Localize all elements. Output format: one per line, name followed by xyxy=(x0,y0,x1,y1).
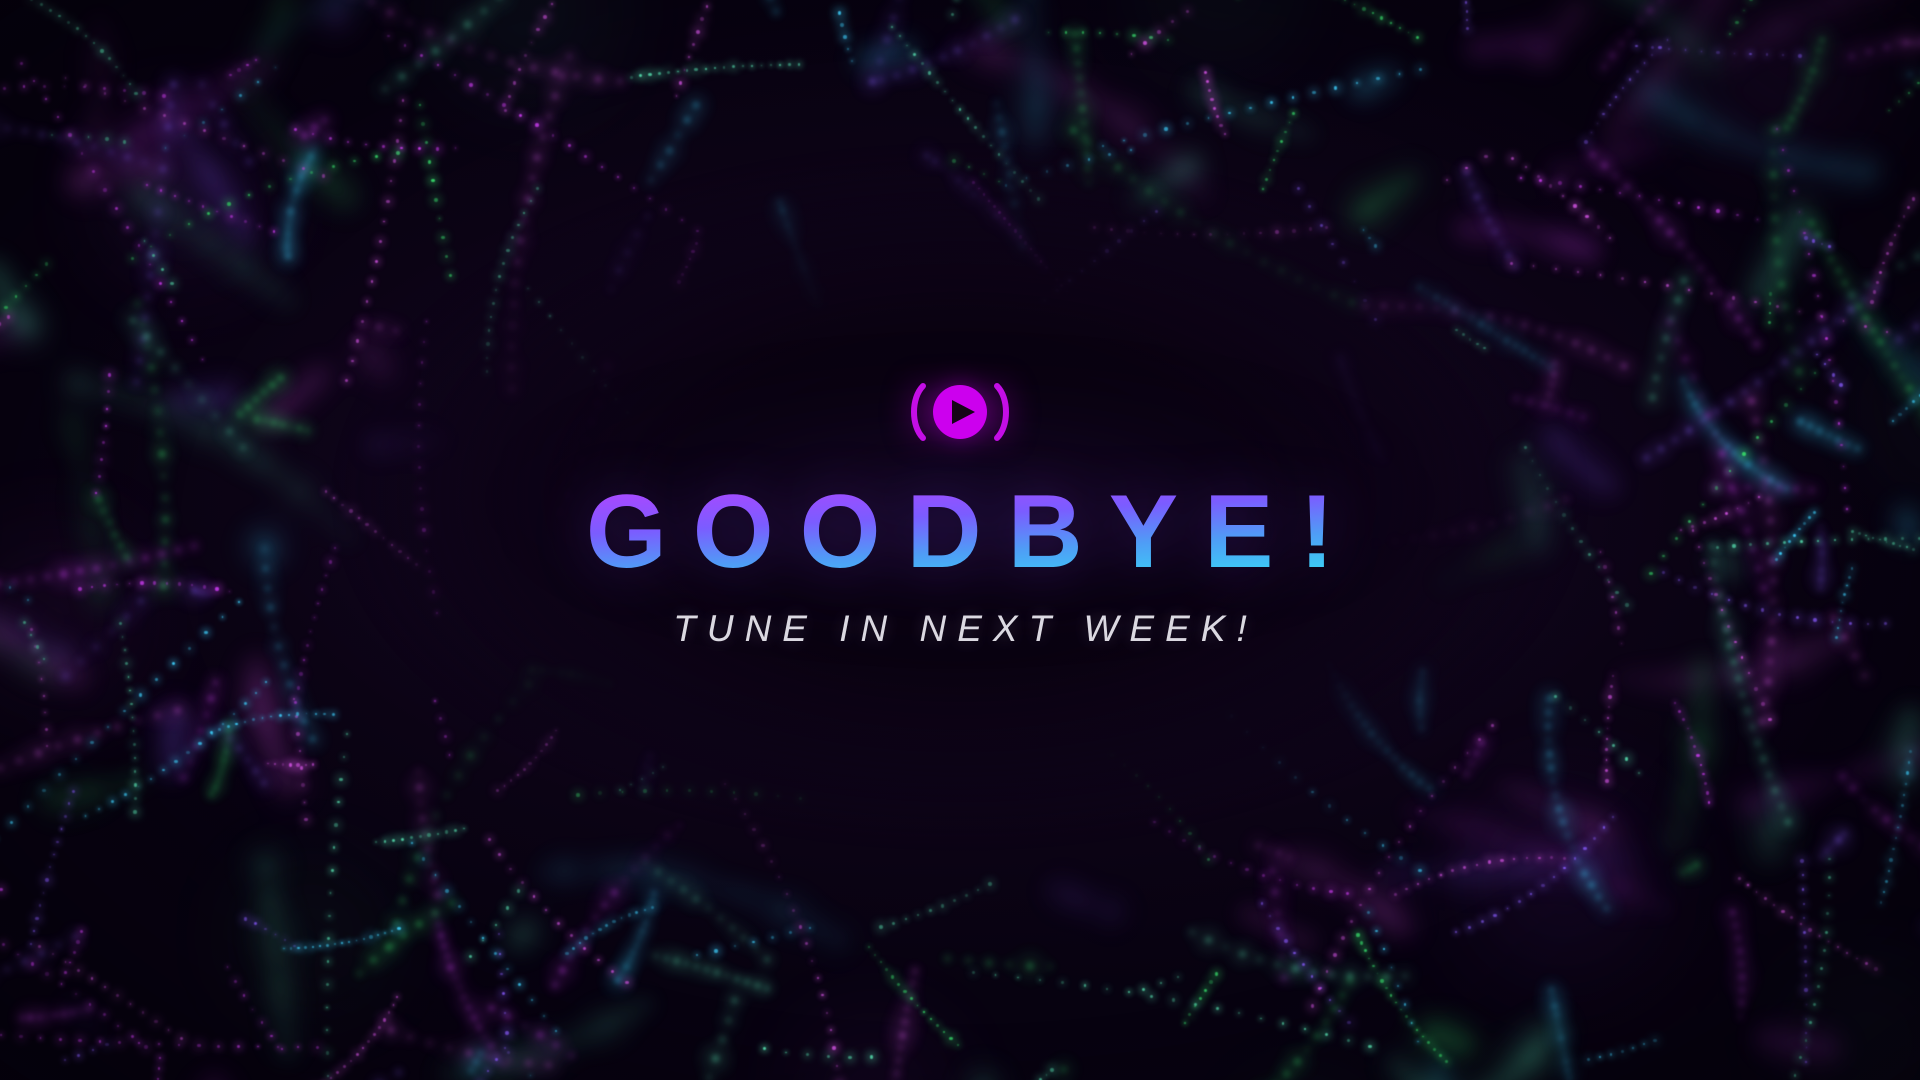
background-particle xyxy=(1537,175,1540,178)
background-particle xyxy=(1398,841,1400,843)
background-particle xyxy=(262,717,264,719)
background-particle xyxy=(306,713,308,715)
background-particle xyxy=(1376,77,1379,80)
background-particle xyxy=(1685,49,1687,51)
background-particle xyxy=(1043,299,1046,302)
background-particle xyxy=(85,815,87,817)
background-particle xyxy=(811,960,813,962)
background-particle xyxy=(159,282,162,285)
background-particle xyxy=(836,1065,839,1068)
background-particle xyxy=(1526,857,1529,860)
background-particle xyxy=(30,943,32,945)
background-particle xyxy=(296,712,299,715)
background-particle xyxy=(77,969,80,972)
background-particle xyxy=(1606,759,1608,761)
background-particle xyxy=(696,30,700,34)
background-particle xyxy=(1874,967,1877,970)
background-particle xyxy=(255,692,257,694)
background-particle xyxy=(570,934,573,937)
background-particle xyxy=(1359,904,1362,907)
background-particle xyxy=(1312,887,1315,890)
background-particle xyxy=(998,153,1001,156)
background-particle xyxy=(152,254,155,257)
background-particle xyxy=(1368,1045,1371,1048)
background-particle xyxy=(1605,748,1608,751)
background-particle xyxy=(130,703,133,706)
background-particle xyxy=(392,839,395,842)
background-particle xyxy=(688,56,690,58)
background-particle xyxy=(61,983,63,985)
background-particle xyxy=(289,763,292,766)
background-particle xyxy=(1150,995,1153,998)
background-particle xyxy=(581,356,584,359)
background-particle xyxy=(1184,1022,1186,1024)
background-particle xyxy=(1024,241,1028,245)
background-particle xyxy=(1764,897,1767,900)
background-particle xyxy=(49,9,52,12)
background-particle xyxy=(42,789,46,793)
background-particle xyxy=(33,80,35,82)
background-particle xyxy=(1375,930,1378,933)
background-particle xyxy=(76,27,79,30)
background-particle xyxy=(184,135,186,137)
background-particle xyxy=(1569,706,1573,710)
background-particle xyxy=(207,212,210,215)
background-particle xyxy=(158,1067,161,1070)
background-particle xyxy=(495,289,497,291)
background-particle xyxy=(1819,935,1821,937)
background-particle xyxy=(487,1070,490,1073)
background-particle xyxy=(0,888,3,891)
background-particle xyxy=(1644,62,1646,64)
background-particle xyxy=(304,946,307,949)
background-particle xyxy=(180,1037,183,1040)
background-particle xyxy=(809,927,811,929)
background-particle xyxy=(362,1047,364,1049)
background-particle xyxy=(375,260,378,263)
background-particle xyxy=(557,922,560,925)
background-particle xyxy=(499,953,501,955)
background-particle xyxy=(57,116,59,118)
background-particle xyxy=(504,785,506,787)
background-particle xyxy=(1825,931,1828,934)
background-particle xyxy=(1399,73,1401,75)
background-particle xyxy=(943,1031,945,1033)
background-particle xyxy=(449,274,452,277)
background-particle xyxy=(401,838,404,841)
background-particle xyxy=(134,770,136,772)
background-particle xyxy=(524,54,527,57)
background-particle xyxy=(1157,30,1161,34)
background-particle xyxy=(1416,1029,1418,1031)
background-particle xyxy=(78,1039,82,1043)
background-particle xyxy=(125,662,128,665)
background-particle xyxy=(1507,908,1508,909)
background-particle xyxy=(1422,1036,1424,1038)
background-particle xyxy=(972,181,975,184)
background-particle xyxy=(892,922,895,925)
background-particle xyxy=(1380,979,1383,982)
background-particle xyxy=(1333,953,1337,957)
background-particle xyxy=(1409,825,1412,828)
background-particle xyxy=(543,15,547,19)
background-particle xyxy=(696,230,699,233)
background-particle xyxy=(132,717,134,719)
background-particle xyxy=(1391,967,1393,969)
background-particle xyxy=(1549,184,1553,188)
background-particle xyxy=(222,137,226,141)
background-particle xyxy=(134,783,138,787)
background-particle xyxy=(43,85,46,88)
background-particle xyxy=(1130,149,1132,151)
background-particle xyxy=(1276,927,1280,931)
background-particle xyxy=(252,1009,254,1011)
background-particle xyxy=(752,828,755,831)
background-particle xyxy=(1338,1010,1341,1013)
signal-arc-right-icon xyxy=(997,386,1006,438)
background-particle xyxy=(1749,0,1753,1)
background-particle xyxy=(1040,260,1043,263)
background-particle xyxy=(1399,27,1401,29)
background-particle xyxy=(445,830,448,833)
background-particle xyxy=(170,282,173,285)
background-particle xyxy=(714,949,718,953)
background-particle xyxy=(536,28,539,31)
background-particle xyxy=(1390,22,1392,24)
background-particle xyxy=(625,981,628,984)
background-particle xyxy=(1584,140,1588,144)
background-particle xyxy=(1909,750,1913,754)
background-particle xyxy=(304,802,306,804)
background-particle xyxy=(382,145,385,148)
background-particle xyxy=(1828,941,1830,943)
background-particle xyxy=(134,757,136,759)
background-particle xyxy=(494,952,497,955)
background-particle xyxy=(1493,914,1496,917)
background-particle xyxy=(1342,261,1344,263)
background-particle xyxy=(1320,224,1323,227)
background-particle xyxy=(1296,884,1298,886)
background-particle xyxy=(1555,268,1557,270)
background-particle xyxy=(1155,210,1158,213)
background-particle xyxy=(1768,718,1772,722)
background-particle xyxy=(1754,301,1757,304)
background-particle xyxy=(268,185,271,188)
background-particle xyxy=(1368,888,1371,891)
background-particle xyxy=(1013,171,1016,174)
background-particle xyxy=(174,195,176,197)
background-particle xyxy=(635,911,638,914)
background-particle xyxy=(1886,331,1888,333)
background-particle xyxy=(336,1071,339,1074)
background-particle xyxy=(396,996,398,998)
background-particle xyxy=(128,676,130,678)
background-particle xyxy=(967,117,969,119)
background-particle xyxy=(1704,782,1707,785)
background-particle xyxy=(1385,987,1388,990)
background-particle xyxy=(1813,1003,1816,1006)
background-particle xyxy=(482,940,484,942)
background-particle xyxy=(761,844,764,847)
background-particle xyxy=(1747,884,1749,886)
background-particle xyxy=(363,938,366,941)
background-particle xyxy=(437,833,439,835)
background-particle xyxy=(639,74,642,77)
background-particle xyxy=(1605,769,1608,772)
background-particle xyxy=(543,1015,545,1017)
background-particle xyxy=(81,152,84,155)
background-particle xyxy=(297,1046,299,1048)
background-particle xyxy=(183,122,186,125)
background-particle xyxy=(316,1046,320,1050)
background-particle xyxy=(1228,112,1231,115)
background-particle xyxy=(1912,197,1915,200)
background-particle xyxy=(1553,876,1556,879)
background-particle xyxy=(1583,847,1587,851)
background-particle xyxy=(103,87,106,90)
background-particle xyxy=(1367,911,1370,914)
background-particle xyxy=(1193,234,1195,236)
background-particle xyxy=(419,104,421,106)
background-particle xyxy=(1518,900,1521,903)
background-particle xyxy=(930,1018,932,1020)
background-particle xyxy=(441,236,444,239)
background-particle xyxy=(1382,844,1385,847)
background-particle xyxy=(294,701,297,704)
background-particle xyxy=(1325,1033,1328,1036)
background-particle xyxy=(1577,271,1579,273)
background-particle xyxy=(1632,1047,1634,1049)
background-particle xyxy=(482,937,484,939)
background-particle xyxy=(274,763,276,765)
background-particle xyxy=(445,889,449,893)
background-particle xyxy=(1678,202,1680,204)
background-particle xyxy=(1034,254,1038,258)
background-particle xyxy=(555,1030,557,1032)
background-particle xyxy=(3,87,6,90)
background-particle xyxy=(1901,804,1904,807)
background-particle xyxy=(123,140,126,143)
background-particle xyxy=(367,1040,370,1043)
background-particle xyxy=(1433,1048,1436,1051)
background-particle xyxy=(1781,910,1785,914)
background-particle xyxy=(244,721,246,723)
background-particle xyxy=(517,889,521,893)
background-particle xyxy=(1612,675,1615,678)
background-particle xyxy=(1467,752,1469,754)
background-particle xyxy=(1360,941,1364,945)
background-particle xyxy=(1249,107,1252,110)
background-particle xyxy=(734,798,737,801)
background-particle xyxy=(1143,220,1145,222)
background-particle xyxy=(523,768,526,771)
background-particle xyxy=(1766,53,1769,56)
background-particle xyxy=(1621,1050,1624,1053)
background-particle xyxy=(149,264,151,266)
background-particle xyxy=(1160,233,1162,235)
background-particle xyxy=(1843,320,1845,322)
background-particle xyxy=(978,188,980,190)
background-particle xyxy=(688,789,691,792)
background-particle xyxy=(951,13,954,16)
background-particle xyxy=(1216,1007,1219,1010)
background-particle xyxy=(1599,1056,1601,1058)
background-particle xyxy=(20,62,23,65)
background-particle xyxy=(1466,19,1468,21)
background-particle xyxy=(1427,1041,1430,1044)
background-particle xyxy=(1483,347,1486,350)
background-particle xyxy=(1442,780,1445,783)
background-particle xyxy=(369,935,373,939)
background-particle xyxy=(1773,904,1775,906)
background-particle xyxy=(1198,847,1201,850)
background-particle xyxy=(59,1038,62,1041)
background-particle xyxy=(255,59,257,61)
background-particle xyxy=(1048,32,1050,34)
background-particle xyxy=(168,1029,170,1031)
background-particle xyxy=(142,1011,144,1013)
background-particle xyxy=(652,772,654,774)
background-particle xyxy=(1372,12,1374,14)
background-particle xyxy=(1311,1004,1315,1008)
background-particle xyxy=(123,75,125,77)
background-particle xyxy=(531,999,533,1001)
background-particle xyxy=(455,147,457,149)
background-particle xyxy=(64,815,67,818)
background-particle xyxy=(470,921,472,923)
background-particle xyxy=(1761,702,1765,706)
background-particle xyxy=(248,194,250,196)
background-particle xyxy=(17,954,19,956)
background-particle xyxy=(41,678,43,680)
background-particle xyxy=(377,934,379,936)
background-particle xyxy=(953,899,956,902)
background-particle xyxy=(301,783,305,787)
background-particle xyxy=(555,730,557,732)
background-particle xyxy=(1587,1058,1590,1061)
background-particle xyxy=(1476,343,1478,345)
background-particle xyxy=(551,3,553,5)
background-particle xyxy=(770,860,773,863)
background-particle xyxy=(710,790,713,793)
background-particle xyxy=(1265,178,1268,181)
background-particle xyxy=(1224,133,1226,135)
background-particle xyxy=(1609,237,1611,239)
background-particle xyxy=(154,1020,157,1023)
background-particle xyxy=(1213,855,1216,858)
background-particle xyxy=(90,741,93,744)
background-particle xyxy=(968,166,970,168)
background-particle xyxy=(1051,273,1053,275)
background-particle xyxy=(505,1031,509,1035)
background-particle xyxy=(1199,997,1202,1000)
background-particle xyxy=(1123,140,1124,141)
background-particle xyxy=(299,750,301,752)
background-particle xyxy=(763,1047,766,1050)
background-particle xyxy=(384,932,386,934)
background-particle xyxy=(1204,989,1207,992)
background-particle xyxy=(439,218,441,220)
background-particle xyxy=(56,841,59,844)
background-particle xyxy=(1562,195,1564,197)
background-particle xyxy=(1597,225,1601,229)
background-particle xyxy=(1060,284,1063,287)
background-particle xyxy=(1873,290,1876,293)
background-particle xyxy=(1246,731,1248,733)
background-particle xyxy=(129,690,131,692)
background-particle xyxy=(1735,21,1739,25)
background-particle xyxy=(1476,864,1479,867)
background-particle xyxy=(988,200,990,202)
background-particle xyxy=(289,178,291,180)
background-particle xyxy=(1809,1021,1812,1024)
background-particle xyxy=(1826,912,1829,915)
background-particle xyxy=(905,918,907,920)
background-particle xyxy=(75,758,77,760)
background-particle xyxy=(1898,225,1900,227)
background-particle xyxy=(38,662,40,664)
background-particle xyxy=(45,98,47,100)
background-particle xyxy=(1262,188,1264,190)
background-particle xyxy=(1282,1022,1285,1025)
background-particle xyxy=(545,909,547,911)
background-particle xyxy=(492,302,495,305)
background-particle xyxy=(158,1043,160,1045)
background-particle xyxy=(488,838,491,841)
background-particle xyxy=(188,647,191,650)
background-particle xyxy=(1209,233,1212,236)
background-particle xyxy=(252,718,255,721)
background-particle xyxy=(666,789,669,792)
background-particle xyxy=(982,135,985,138)
background-particle xyxy=(488,329,490,331)
background-particle xyxy=(65,77,67,79)
background-particle xyxy=(1591,132,1593,134)
background-particle xyxy=(45,972,48,975)
background-particle xyxy=(1678,710,1681,713)
background-particle xyxy=(1554,695,1557,698)
background-particle xyxy=(116,994,120,998)
background-particle xyxy=(19,1035,23,1039)
background-particle xyxy=(1093,226,1096,229)
background-particle xyxy=(584,936,588,940)
background-particle xyxy=(375,155,378,158)
background-particle xyxy=(23,85,26,88)
background-particle xyxy=(296,732,300,736)
background-particle xyxy=(281,1048,283,1050)
background-particle xyxy=(1304,1028,1306,1030)
background-particle xyxy=(124,649,126,651)
background-particle xyxy=(1445,1060,1448,1063)
background-particle xyxy=(445,255,449,259)
background-particle xyxy=(1106,988,1109,991)
background-particle xyxy=(387,35,390,38)
background-particle xyxy=(1828,359,1830,361)
background-particle xyxy=(695,242,698,245)
background-particle xyxy=(936,1024,939,1027)
background-particle xyxy=(1846,952,1848,954)
background-particle xyxy=(1741,656,1744,659)
background-particle xyxy=(1539,179,1542,182)
background-particle xyxy=(560,329,562,331)
background-particle xyxy=(383,1018,387,1022)
background-particle xyxy=(150,778,152,780)
background-particle xyxy=(99,1040,101,1042)
background-particle xyxy=(133,810,137,814)
background-particle xyxy=(874,954,876,956)
background-particle xyxy=(435,874,437,876)
background-particle xyxy=(508,95,511,98)
